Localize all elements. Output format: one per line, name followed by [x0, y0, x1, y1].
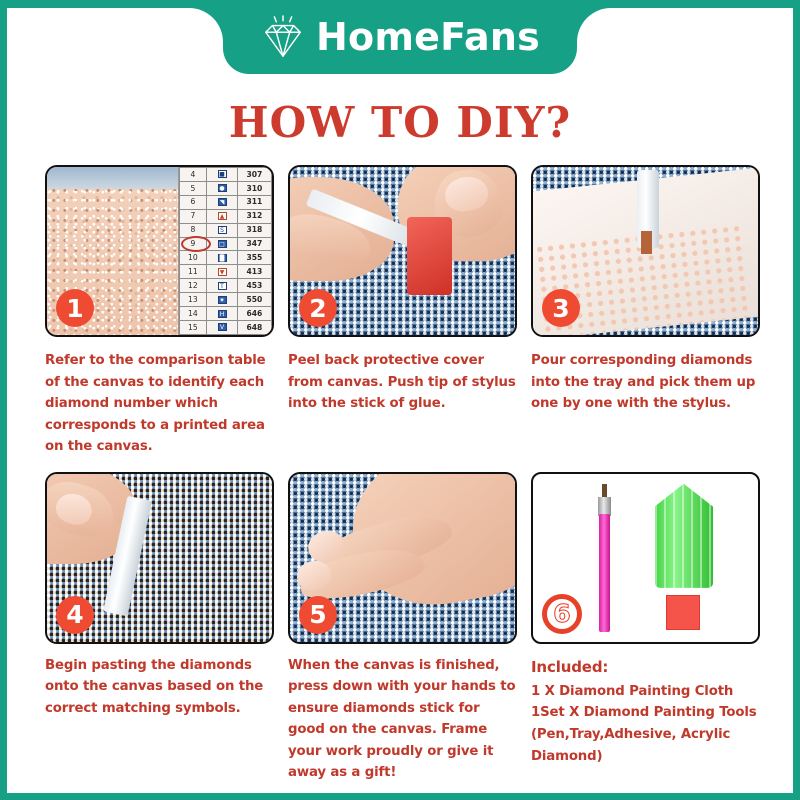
steps-grid: 4■3075●3106◥3117▲3128S3189□34710█35511▼4…	[45, 165, 760, 784]
step-2-caption: Peel back protective cover from canvas. …	[288, 350, 517, 415]
chart-cell-code: 413	[237, 265, 271, 279]
chart-cell-number: 7	[179, 209, 207, 223]
step-badge-6-number: 6	[553, 599, 570, 628]
chart-cell-symbol: H	[207, 307, 238, 321]
table-row: 9□347	[179, 237, 272, 251]
poster-page: HomeFans HOW TO DIY? 4■3075●3106◥3117▲31…	[0, 0, 800, 800]
chart-cell-code: 355	[237, 251, 271, 265]
included-line-3: (Pen,Tray,Adhesive, Acrylic Diamond)	[531, 727, 730, 764]
stylus-tip	[641, 231, 652, 255]
chart-cell-number: 6	[179, 195, 207, 209]
pen-metal-tip	[598, 497, 610, 515]
table-row: 14H646	[179, 307, 272, 321]
chart-cell-number: 9	[179, 237, 207, 251]
page-title: HOW TO DIY?	[0, 98, 800, 147]
chart-symbol-icon: █	[218, 254, 227, 262]
step-6-photo: 6	[531, 472, 760, 644]
chart-cell-symbol: ▼	[207, 265, 238, 279]
glue-stick	[407, 217, 452, 294]
chart-cell-symbol: █	[207, 251, 238, 265]
step-badge-5: 5	[299, 596, 337, 634]
chart-cell-symbol: V	[207, 320, 238, 334]
table-row: 8S318	[179, 223, 272, 237]
diamond-pen	[599, 514, 609, 632]
table-row: 4■307	[179, 168, 272, 182]
chart-symbol-icon: ▼	[218, 268, 227, 276]
step-badge-6: 6	[542, 594, 582, 634]
step-1-caption: Refer to the comparison table of the can…	[45, 350, 274, 458]
chart-symbol-icon: V	[218, 323, 227, 331]
chart-cell-symbol: ▲	[207, 209, 238, 223]
step-4-caption: Begin pasting the diamonds onto the canv…	[45, 655, 274, 720]
step-badge-4: 4	[56, 596, 94, 634]
step-5-photo: 5	[288, 472, 517, 644]
brand-header: HomeFans	[223, 0, 577, 74]
steps-row-bottom: 4 Begin pasting the diamonds onto the ca…	[45, 472, 760, 784]
chart-cell-code: 312	[237, 209, 271, 223]
step-3-caption: Pour corresponding diamonds into the tra…	[531, 350, 760, 415]
step-card-6: 6 Included: 1 X Diamond Painting Cloth 1…	[531, 472, 760, 784]
table-row: 6◥311	[179, 195, 272, 209]
step-badge-1: 1	[56, 289, 94, 327]
chart-cell-number: 13	[179, 293, 207, 307]
diamond-icon	[260, 15, 306, 61]
header-tab-fillet-right	[577, 8, 611, 42]
chart-symbol-icon: H	[218, 310, 227, 318]
diamond-tray-tool	[655, 484, 714, 588]
chart-symbol-icon: ●	[218, 184, 227, 192]
chart-cell-number: 12	[179, 279, 207, 293]
chart-symbol-icon: ✷	[218, 296, 227, 304]
adhesive-square	[666, 595, 700, 630]
step-5-caption: When the canvas is finished, press down …	[288, 655, 517, 784]
included-line-1: 1 X Diamond Painting Cloth	[531, 684, 733, 699]
table-row: 12T453	[179, 279, 272, 293]
step-card-5: 5 When the canvas is finished, press dow…	[288, 472, 517, 784]
chart-symbol-icon: T	[218, 282, 227, 290]
chart-cell-code: 310	[237, 181, 271, 195]
chart-cell-code: 311	[237, 195, 271, 209]
table-row: 13✷550	[179, 293, 272, 307]
included-heading: Included:	[531, 655, 760, 679]
chart-cell-symbol: ●	[207, 181, 238, 195]
brand-name: HomeFans	[316, 15, 540, 59]
header-tab-fillet-left	[189, 8, 223, 42]
chart-cell-number: 5	[179, 181, 207, 195]
chart-cell-code: 453	[237, 279, 271, 293]
step-badge-3: 3	[542, 289, 580, 327]
chart-symbol-icon: ▲	[218, 212, 227, 220]
chart-symbol-icon: ◥	[218, 198, 227, 206]
step-3-photo: 3	[531, 165, 760, 337]
table-row: 11▼413	[179, 265, 272, 279]
chart-cell-number: 14	[179, 307, 207, 321]
chart-cell-code: 648	[237, 320, 271, 334]
step-card-3: 3 Pour corresponding diamonds into the t…	[531, 165, 760, 458]
chart-cell-number: 4	[179, 168, 207, 182]
chart-cell-code: 307	[237, 168, 271, 182]
step-4-photo: 4	[45, 472, 274, 644]
chart-cell-symbol: T	[207, 279, 238, 293]
chart-cell-code: 347	[237, 237, 271, 251]
chart-cell-symbol: S	[207, 223, 238, 237]
chart-cell-symbol: ◥	[207, 195, 238, 209]
steps-row-top: 4■3075●3106◥3117▲3128S3189□34710█35511▼4…	[45, 165, 760, 458]
step-1-photo: 4■3075●3106◥3117▲3128S3189□34710█35511▼4…	[45, 165, 274, 337]
table-row: 5●310	[179, 181, 272, 195]
step-card-2: 2 Peel back protective cover from canvas…	[288, 165, 517, 458]
chart-cell-number: 10	[179, 251, 207, 265]
chart-cell-code: 318	[237, 223, 271, 237]
chart-symbol-icon: ■	[218, 170, 227, 178]
chart-symbol-icon: S	[218, 226, 227, 234]
chart-cell-symbol: ■	[207, 168, 238, 182]
table-row: 15V648	[179, 320, 272, 334]
chart-cell-code: 550	[237, 293, 271, 307]
chart-cell-symbol: ✷	[207, 293, 238, 307]
chart-symbol-icon: □	[218, 240, 227, 248]
table-row: 10█355	[179, 251, 272, 265]
included-line-2: 1Set X Diamond Painting Tools	[531, 705, 757, 720]
chart-cell-symbol: □	[207, 237, 238, 251]
step-6-caption: Included: 1 X Diamond Painting Cloth 1Se…	[531, 655, 760, 767]
step-2-photo: 2	[288, 165, 517, 337]
chart-cell-code: 646	[237, 307, 271, 321]
comparison-chart-table: 4■3075●3106◥3117▲3128S3189□34710█35511▼4…	[179, 167, 273, 335]
chart-cell-number: 8	[179, 223, 207, 237]
step-badge-2: 2	[299, 289, 337, 327]
chart-cell-number: 11	[179, 265, 207, 279]
table-row: 7▲312	[179, 209, 272, 223]
step-card-1: 4■3075●3106◥3117▲3128S3189□34710█35511▼4…	[45, 165, 274, 458]
chart-cell-number: 15	[179, 320, 207, 334]
comparison-chart: 4■3075●3106◥3117▲3128S3189□34710█35511▼4…	[178, 167, 273, 335]
step-card-4: 4 Begin pasting the diamonds onto the ca…	[45, 472, 274, 784]
